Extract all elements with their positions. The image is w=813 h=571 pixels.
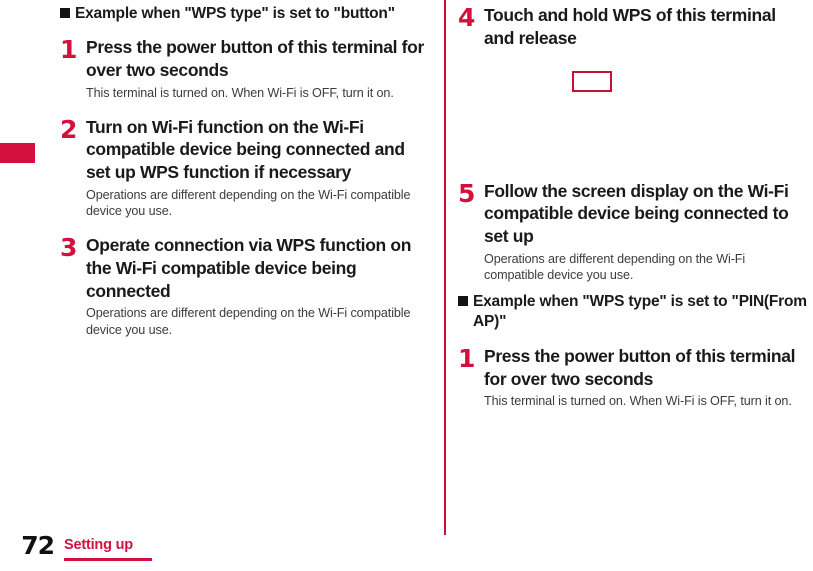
step-number: 2	[60, 116, 86, 142]
step-item: 1 Press the power button of this termina…	[458, 345, 808, 410]
step-body: Press the power button of this terminal …	[86, 36, 432, 101]
step-item: 3 Operate connection via WPS function on…	[60, 234, 432, 338]
step-number: 1	[458, 345, 484, 371]
step-title: Press the power button of this terminal …	[484, 345, 808, 391]
left-column: Example when "WPS type" is set to "butto…	[60, 0, 432, 339]
section-header-label: Example when "WPS type" is set to "butto…	[75, 4, 432, 24]
step-body: Operate connection via WPS function on t…	[86, 234, 432, 338]
manual-page: Example when "WPS type" is set to "butto…	[0, 0, 813, 571]
step-title: Operate connection via WPS function on t…	[86, 234, 432, 302]
black-square-bullet-icon	[60, 8, 70, 18]
step-title: Follow the screen display on the Wi-Fi c…	[484, 180, 808, 248]
step-item: 2 Turn on Wi-Fi function on the Wi-Fi co…	[60, 116, 432, 220]
section-header-label: Example when "WPS type" is set to "PIN(F…	[473, 292, 808, 333]
right-column: 4 Touch and hold WPS of this terminal an…	[458, 0, 808, 410]
black-square-bullet-icon	[458, 296, 468, 306]
step-body: Follow the screen display on the Wi-Fi c…	[484, 180, 808, 284]
step-title: Press the power button of this terminal …	[86, 36, 432, 82]
step-body: Press the power button of this terminal …	[484, 345, 808, 410]
step-item: 4 Touch and hold WPS of this terminal an…	[458, 0, 808, 50]
step-item: 5 Follow the screen display on the Wi-Fi…	[458, 180, 808, 284]
step-item: 1 Press the power button of this termina…	[60, 36, 432, 101]
step-note: This terminal is turned on. When Wi-Fi i…	[86, 85, 432, 102]
chapter-edge-tab	[0, 143, 35, 163]
step-number: 1	[60, 36, 86, 62]
wps-highlight-box	[572, 71, 612, 92]
footer-chapter-title: Setting up	[64, 537, 133, 555]
step-title: Touch and hold WPS of this terminal and …	[484, 4, 808, 50]
step-number: 4	[458, 4, 484, 30]
page-footer: 72 Setting up	[0, 525, 813, 571]
footer-underline	[64, 558, 152, 561]
section-header-pin-type: Example when "WPS type" is set to "PIN(F…	[458, 292, 808, 333]
step-number: 3	[60, 234, 86, 260]
page-number: 72	[10, 531, 54, 560]
step-body: Turn on Wi-Fi function on the Wi-Fi comp…	[86, 116, 432, 220]
terminal-illustration-area	[458, 50, 808, 180]
step-number: 5	[458, 180, 484, 206]
column-divider	[444, 0, 446, 535]
step-body: Touch and hold WPS of this terminal and …	[484, 4, 808, 50]
step-note: Operations are different depending on th…	[484, 251, 808, 284]
step-note: Operations are different depending on th…	[86, 187, 432, 220]
step-title: Turn on Wi-Fi function on the Wi-Fi comp…	[86, 116, 432, 184]
step-note: This terminal is turned on. When Wi-Fi i…	[484, 393, 808, 410]
step-note: Operations are different depending on th…	[86, 305, 432, 338]
section-header-button-type: Example when "WPS type" is set to "butto…	[60, 0, 432, 24]
